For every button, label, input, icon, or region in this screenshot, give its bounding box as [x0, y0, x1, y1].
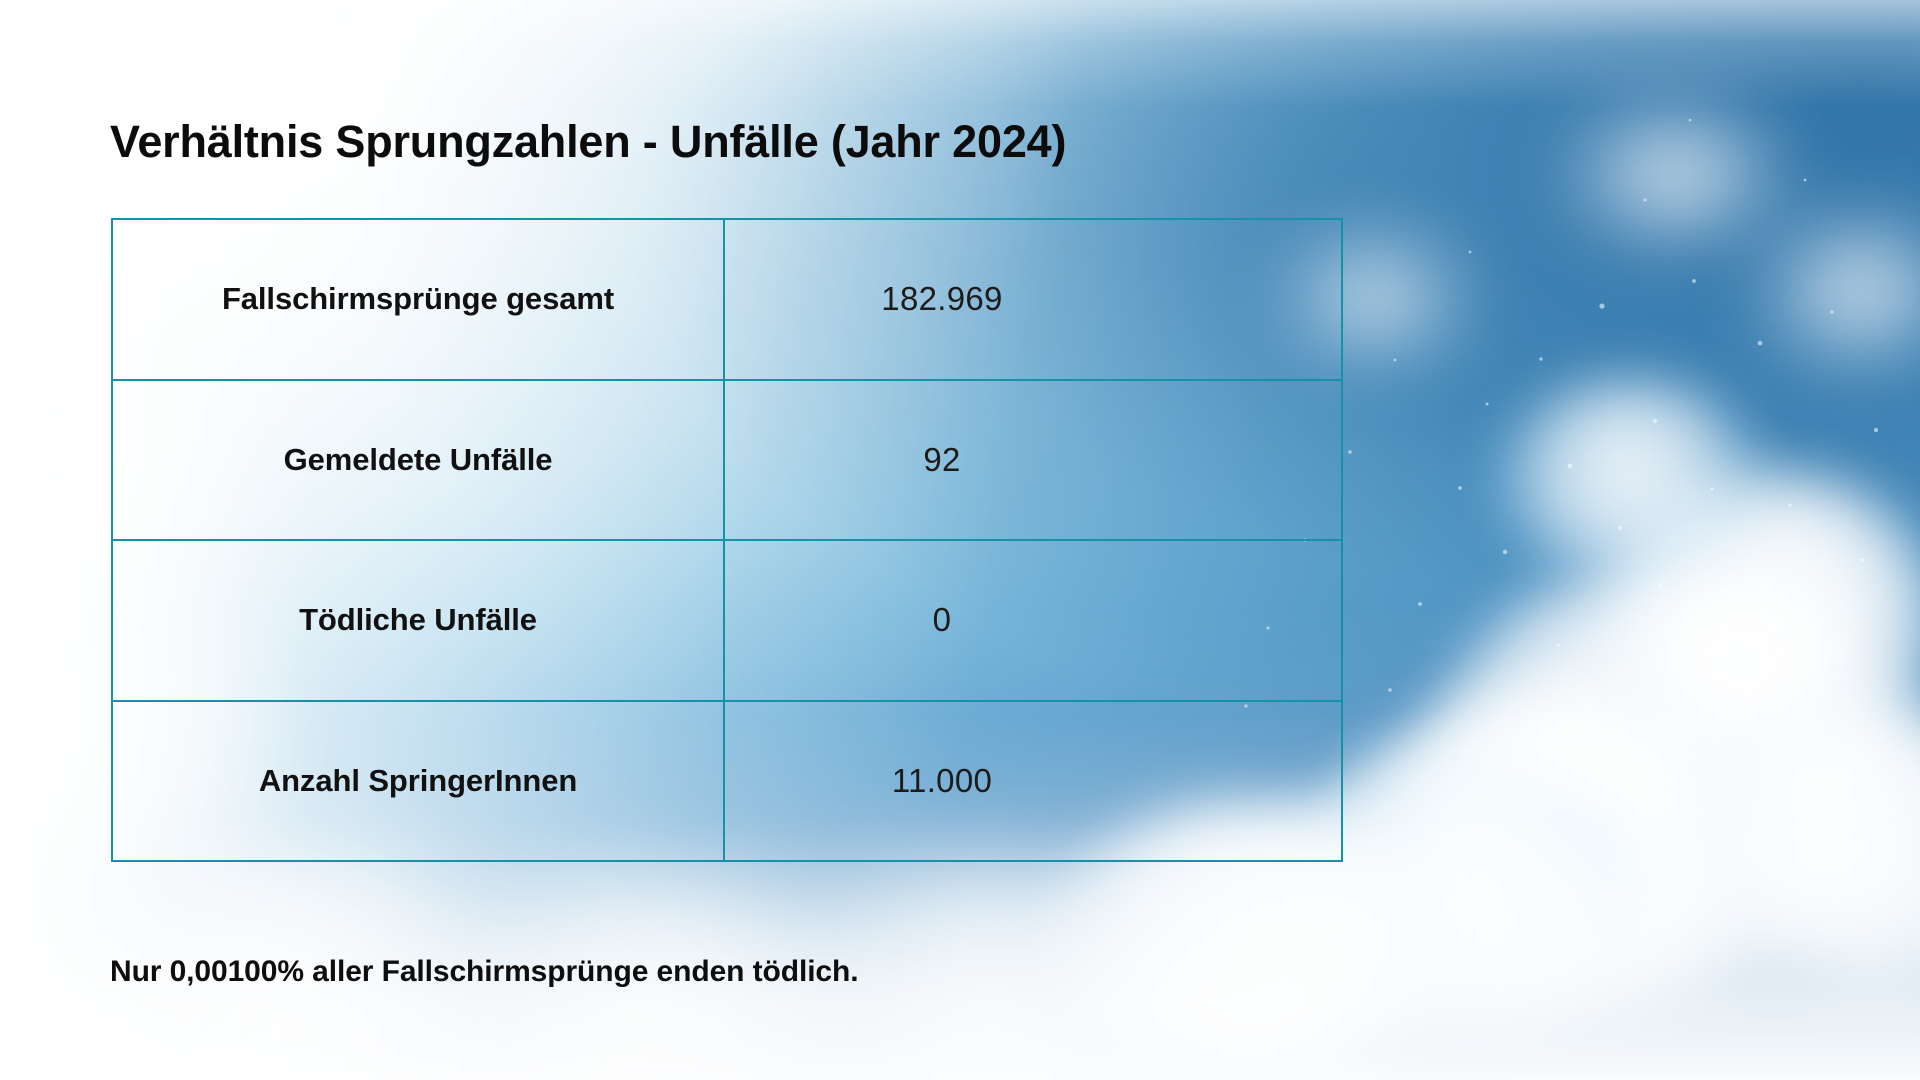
footnote-text: Nur 0,00100% aller Fallschirmsprünge end… — [110, 955, 858, 989]
table-cell-value: 0 — [725, 541, 1341, 700]
slide-canvas: Verhältnis Sprungzahlen - Unfälle (Jahr … — [0, 0, 1920, 1080]
table-cell-label: Gemeldete Unfälle — [113, 381, 725, 540]
slide-content: Verhältnis Sprungzahlen - Unfälle (Jahr … — [0, 0, 1920, 1080]
table-row: Fallschirmsprünge gesamt 182.969 — [113, 220, 1341, 381]
table-cell-label: Anzahl SpringerInnen — [113, 702, 725, 861]
table-row: Gemeldete Unfälle 92 — [113, 381, 1341, 542]
table-cell-value: 182.969 — [725, 220, 1341, 379]
page-title: Verhältnis Sprungzahlen - Unfälle (Jahr … — [110, 116, 1066, 168]
table-cell-label: Fallschirmsprünge gesamt — [113, 220, 725, 379]
statistics-table: Fallschirmsprünge gesamt 182.969 Gemelde… — [111, 218, 1343, 862]
table-cell-label: Tödliche Unfälle — [113, 541, 725, 700]
table-cell-value: 92 — [725, 381, 1341, 540]
table-cell-value: 11.000 — [725, 702, 1341, 861]
table-row: Tödliche Unfälle 0 — [113, 541, 1341, 702]
table-row: Anzahl SpringerInnen 11.000 — [113, 702, 1341, 861]
